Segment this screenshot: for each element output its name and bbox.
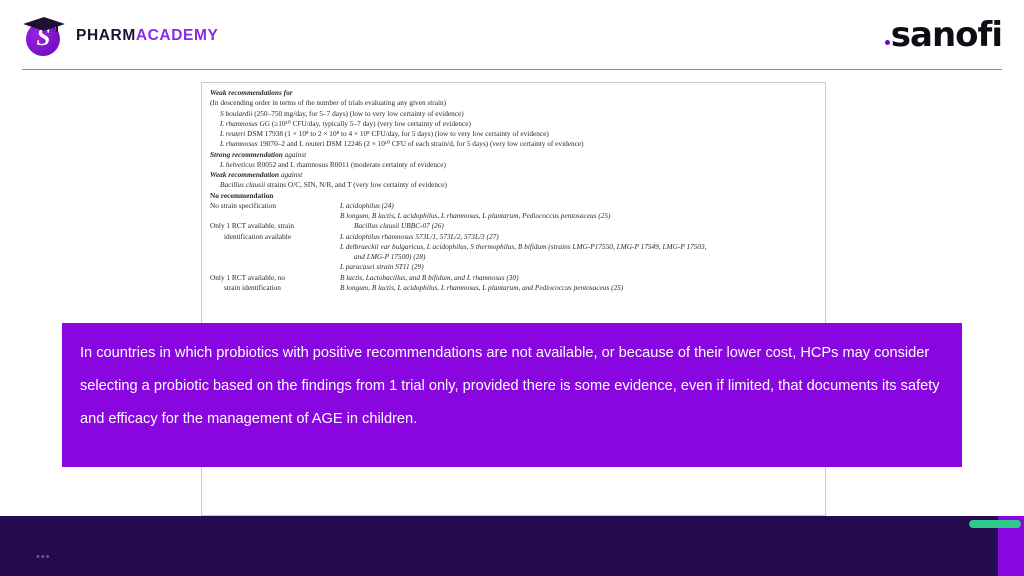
strain-name: L reuteri: [220, 129, 245, 138]
strain-detail: 19070–2 and L reuteri DSM 12246 (2 × 10¹…: [258, 139, 584, 148]
strain-name: S boulardii: [220, 109, 252, 118]
strain-detail: DSM 17938 (1 × 10⁸ to 2 × 10⁸ to 4 × 10⁸…: [245, 129, 548, 138]
row-spacer: [210, 303, 817, 313]
figure-line: No recommendation: [210, 191, 817, 201]
row-label: Only 1 RCT available, no strain identifi…: [210, 273, 340, 294]
figure-line: L rhamnosus GG (≥10¹⁰ CFU/day, typically…: [210, 119, 817, 129]
strain-detail: strains O/C, SIN, N/R, and T (very low c…: [265, 180, 447, 189]
row-value: B longum, B lactis, L acidophilus, L rha…: [340, 211, 817, 221]
mortarboard-icon: [22, 16, 66, 32]
figure-line: Weak recommendation against: [210, 170, 817, 180]
table-row: Only 1 RCT available, strain identificat…: [210, 221, 817, 272]
row-value: L delbrueckii var bulgaricus, L acidophi…: [340, 242, 817, 252]
sanofi-wordmark: sanofi: [891, 15, 1002, 55]
brand-name-part2: ACADEMY: [136, 27, 219, 44]
callout-overlay: In countries in which probiotics with po…: [62, 323, 962, 467]
figure-heading-bold: Strong recommendation: [210, 150, 285, 159]
strain-name: L rhamnosus GG: [220, 119, 270, 128]
brand-name-part1: PHARM: [76, 27, 136, 44]
row-value: Bacillus clausii UBBC-07 (26): [340, 221, 817, 231]
row-value: B longum, B lactis, L acidophilus, L rha…: [340, 283, 817, 293]
row-label-line: strain identification: [210, 283, 340, 293]
brand-logo[interactable]: S PHARMACADEMY: [22, 14, 218, 58]
row-values: B lactis, Lactobacillus, and B bifidum, …: [340, 273, 817, 294]
strain-name: Bacillus clausii: [220, 180, 265, 189]
figure-heading-italic: against: [281, 170, 303, 179]
footer-ellipsis[interactable]: •••: [36, 552, 51, 563]
strain-detail: (≥10¹⁰ CFU/day, typically 5–7 day) (very…: [270, 119, 471, 128]
row-value: L acidophilus rhamnosus 573L/1, 573L/2, …: [340, 232, 817, 242]
row-values: L acidophilus (24) B longum, B lactis, L…: [340, 201, 817, 222]
row-label-line: identification available: [210, 232, 340, 242]
row-label: No strain specification: [210, 201, 340, 211]
row-value: and LMG-P 17500) (28): [340, 252, 817, 262]
figure-heading-italic: for: [284, 88, 293, 97]
row-value: B lactis, Lactobacillus, and B bifidum, …: [340, 273, 817, 283]
row-value: L paracasei strain ST11 (29): [340, 262, 817, 272]
figure-line: L rhamnosus 19070–2 and L reuteri DSM 12…: [210, 139, 817, 149]
figure-heading-italic: against: [285, 150, 307, 159]
figure-line: S boulardii (250–750 mg/day, for 5–7 day…: [210, 109, 817, 119]
row-values: Bacillus clausii UBBC-07 (26) L acidophi…: [340, 221, 817, 272]
figure-line: Weak recommendations for: [210, 88, 817, 98]
sanofi-dot-left-icon: [885, 40, 890, 45]
figure-line: (In descending order in terms of the num…: [210, 98, 817, 108]
row-value: L acidophilus (24): [340, 201, 817, 211]
figure-line: Strong recommendation against: [210, 150, 817, 160]
sanofi-logo: sanofi: [885, 18, 1002, 52]
table-row: Only 1 RCT available, no strain identifi…: [210, 273, 817, 294]
graduation-cap-logo-icon: S: [22, 14, 66, 58]
strain-name: L rhamnosus: [220, 139, 258, 148]
page-footer: •••: [0, 516, 1024, 576]
callout-text: In countries in which probiotics with po…: [80, 337, 944, 436]
table-row: No strain specification L acidophilus (2…: [210, 201, 817, 222]
figure-heading-bold: Weak recommendation: [210, 170, 281, 179]
figure-line: Bacillus clausii strains O/C, SIN, N/R, …: [210, 180, 817, 190]
row-label-line: Only 1 RCT available, strain: [210, 221, 340, 231]
figure-line: L helveticus R0052 and L rhamnosus R0011…: [210, 160, 817, 170]
row-label-line: Only 1 RCT available, no: [210, 273, 340, 283]
strain-detail: (250–750 mg/day, for 5–7 days) (low to v…: [252, 109, 463, 118]
figure-heading-bold: Weak recommendations: [210, 88, 284, 97]
figure-line: L reuteri DSM 17938 (1 × 10⁸ to 2 × 10⁸ …: [210, 129, 817, 139]
row-label: Only 1 RCT available, strain identificat…: [210, 221, 340, 242]
strain-name: L helveticus: [220, 160, 255, 169]
strain-detail: R0052 and L rhamnosus R0011 (moderate ce…: [255, 160, 446, 169]
brand-wordmark: PHARMACADEMY: [76, 27, 218, 45]
footer-progress-pill: [969, 520, 1021, 528]
header-divider: [22, 69, 1002, 70]
row-spacer: [210, 293, 817, 303]
page-header: S PHARMACADEMY sanofi: [0, 0, 1024, 70]
